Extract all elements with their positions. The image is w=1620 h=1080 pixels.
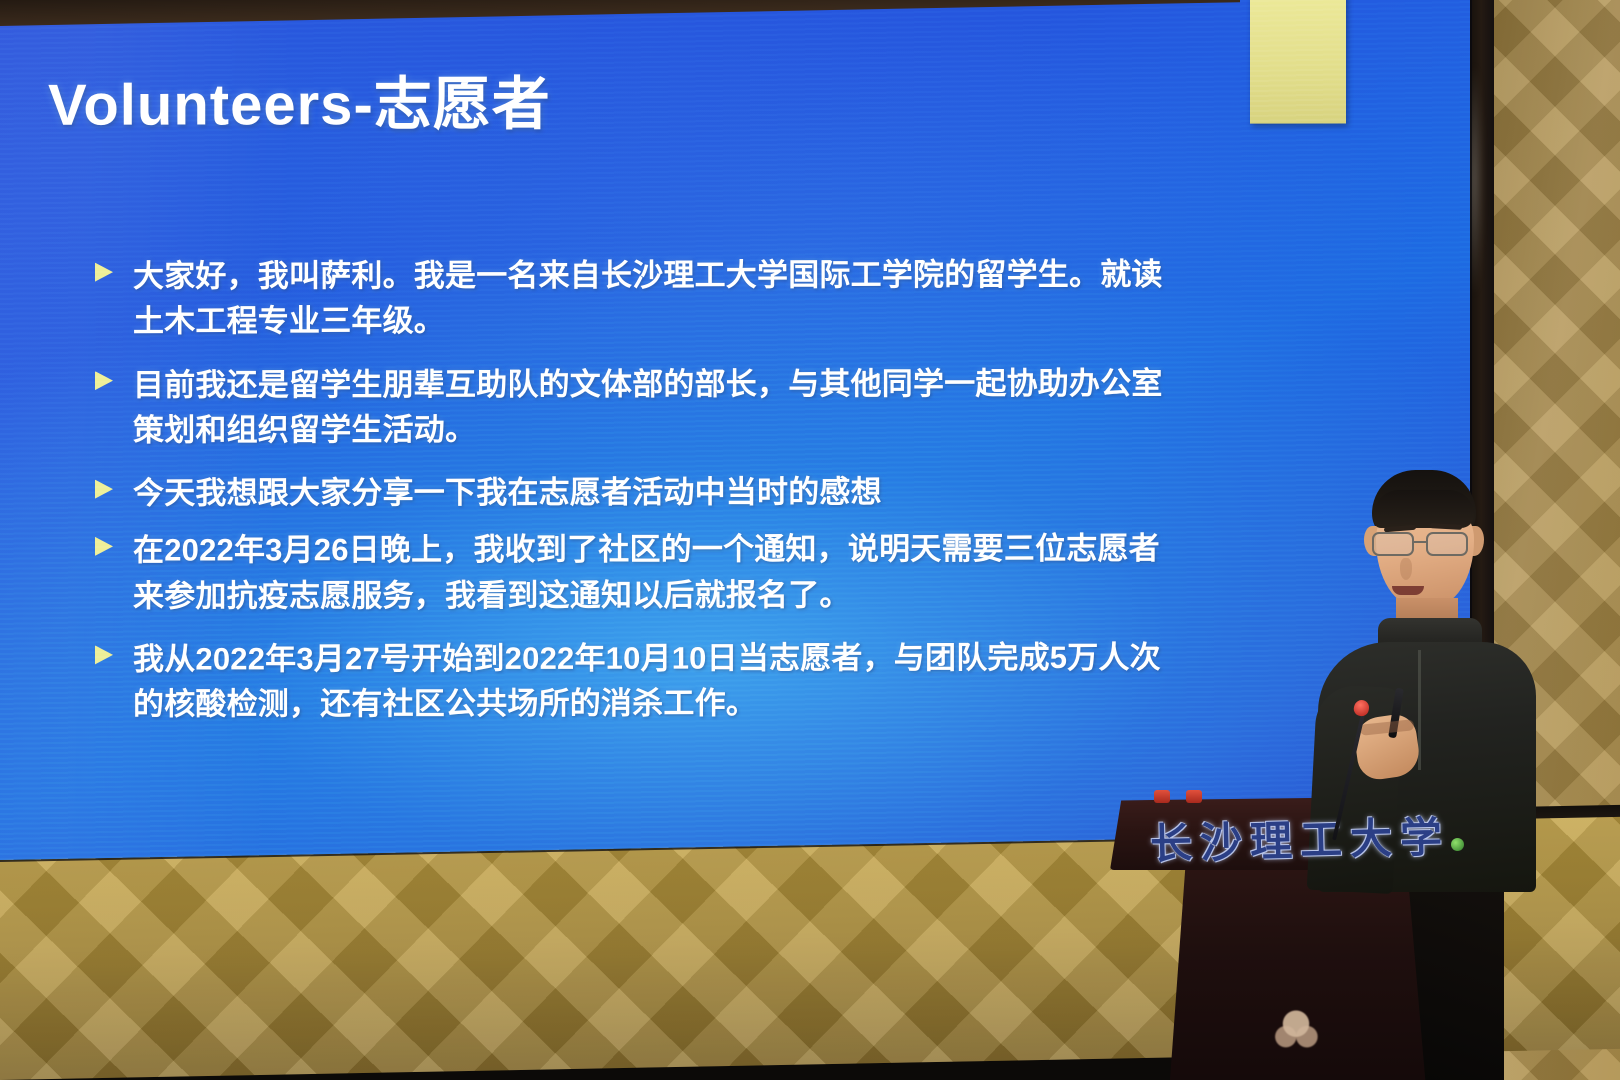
slide-bullet-list: 大家好，我叫萨利。我是一名来自长沙理工大学国际工学院的留学生。就读土木工程专业三…: [95, 252, 1170, 745]
presenter-nose: [1400, 558, 1412, 580]
slide-title: Volunteers-志愿者: [48, 75, 551, 137]
presenter-hair-front: [1374, 490, 1474, 528]
university-emblem: [1262, 992, 1330, 1064]
list-item: 目前我还是留学生朋辈互助队的文体部的部长，与其他同学一起协助办公室策划和组织留学…: [95, 360, 1170, 452]
presenter-mouth: [1392, 586, 1424, 595]
bullet-text: 在2022年3月26日晚上，我收到了社区的一个通知，说明天需要三位志愿者来参加抗…: [133, 526, 1170, 618]
bullet-text: 今天我想跟大家分享一下我在志愿者活动中当时的感想: [133, 469, 882, 516]
podium-indicator-light: [1451, 838, 1464, 851]
list-item: 在2022年3月26日晚上，我收到了社区的一个通知，说明天需要三位志愿者来参加抗…: [95, 526, 1170, 618]
bullet-text: 我从2022年3月27号开始到2022年10月10日当志愿者，与团队完成5万人次…: [133, 635, 1170, 727]
triangle-right-icon: [95, 645, 113, 664]
glasses-lens-left: [1372, 532, 1414, 556]
triangle-right-icon: [95, 263, 113, 282]
slide-content: Volunteers-志愿者 大家好，我叫萨利。我是一名来自长沙理工大学国际工学…: [0, 0, 1470, 848]
triangle-right-icon: [95, 480, 113, 499]
projection-screen: Volunteers-志愿者 大家好，我叫萨利。我是一名来自长沙理工大学国际工学…: [0, 0, 1470, 860]
list-item: 大家好，我叫萨利。我是一名来自长沙理工大学国际工学院的留学生。就读土木工程专业三…: [95, 252, 1170, 344]
bullet-text: 大家好，我叫萨利。我是一名来自长沙理工大学国际工学院的留学生。就读土木工程专业三…: [133, 252, 1170, 344]
glasses-lens-right: [1426, 532, 1468, 556]
lecture-hall-photo: Volunteers-志愿者 大家好，我叫萨利。我是一名来自长沙理工大学国际工学…: [0, 0, 1620, 1080]
slide-decoration-rectangle: [1250, 0, 1346, 124]
triangle-right-icon: [95, 371, 113, 390]
podium-button-red-2[interactable]: [1186, 790, 1202, 803]
glasses-icon: [1370, 532, 1482, 558]
list-item: 我从2022年3月27号开始到2022年10月10日当志愿者，与团队完成5万人次…: [95, 635, 1170, 727]
triangle-right-icon: [95, 537, 113, 556]
podium-button-red-1[interactable]: [1154, 790, 1170, 803]
bullet-text: 目前我还是留学生朋辈互助队的文体部的部长，与其他同学一起协助办公室策划和组织留学…: [133, 360, 1170, 452]
list-item: 今天我想跟大家分享一下我在志愿者活动中当时的感想: [95, 469, 1170, 516]
